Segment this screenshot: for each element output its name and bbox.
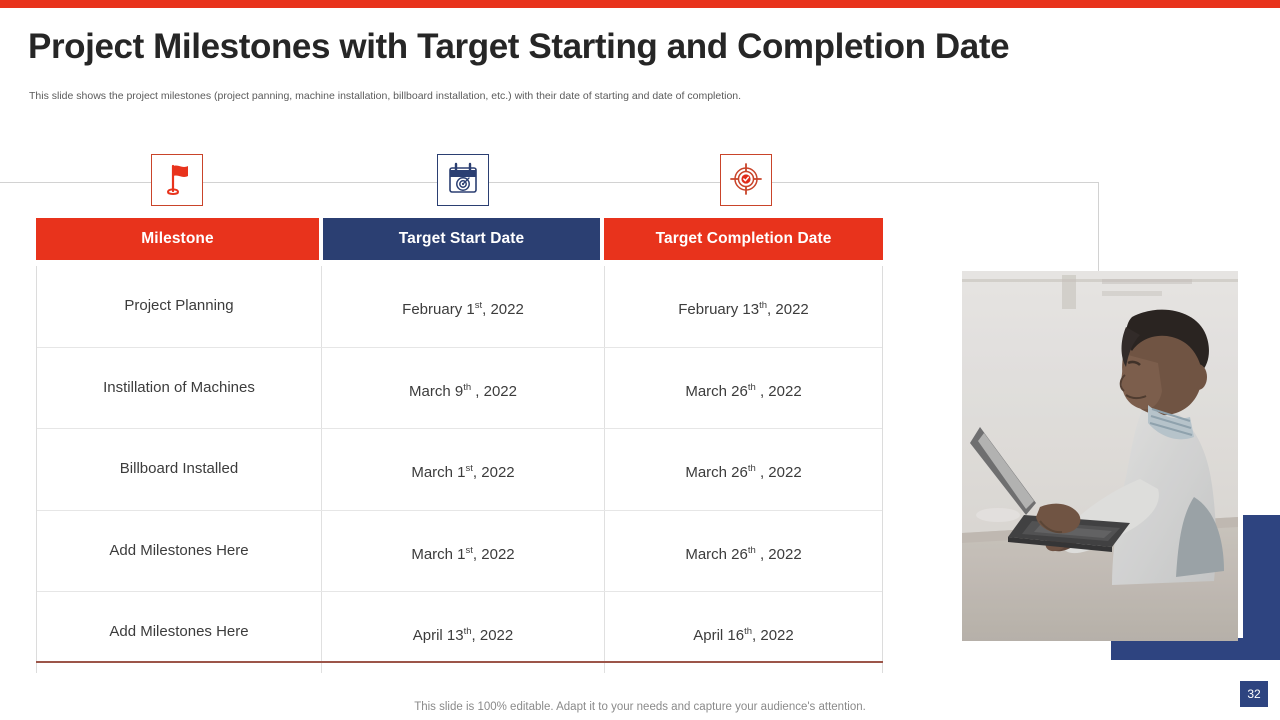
cell-start-date: March 1st, 2022	[322, 429, 605, 510]
table-row: Instillation of MachinesMarch 9th , 2022…	[37, 348, 882, 430]
footer-note: This slide is 100% editable. Adapt it to…	[0, 701, 1280, 713]
cell-completion-date: March 26th , 2022	[605, 348, 882, 429]
man-working-on-laptop-photo	[962, 271, 1238, 641]
cell-start-date: March 9th , 2022	[322, 348, 605, 429]
table-header-row: Milestone Target Start Date Target Compl…	[36, 218, 883, 260]
cell-completion-date: February 13th, 2022	[605, 266, 882, 347]
cell-completion-date: March 26th , 2022	[605, 511, 882, 592]
icon-box-start-date	[437, 154, 489, 206]
flag-icon	[152, 161, 202, 197]
column-header-milestone: Milestone	[36, 218, 319, 260]
table-row: Project PlanningFebruary 1st, 2022Februa…	[37, 266, 882, 348]
column-header-start-date: Target Start Date	[323, 218, 600, 260]
cell-milestone: Project Planning	[37, 266, 322, 347]
top-accent-bar	[0, 0, 1280, 8]
calendar-target-icon	[438, 161, 488, 197]
page-title: Project Milestones with Target Starting …	[28, 27, 1009, 67]
icon-box-completion-date	[720, 154, 772, 206]
cell-milestone: Instillation of Machines	[37, 348, 322, 429]
cell-milestone: Add Milestones Here	[37, 511, 322, 592]
connector-line-vertical	[1098, 182, 1099, 272]
cell-start-date: February 1st, 2022	[322, 266, 605, 347]
table-body: Project PlanningFebruary 1st, 2022Februa…	[36, 266, 883, 673]
milestones-table: Milestone Target Start Date Target Compl…	[36, 218, 883, 673]
cell-milestone: Billboard Installed	[37, 429, 322, 510]
page-subtitle: This slide shows the project milestones …	[29, 90, 741, 102]
cell-start-date: March 1st, 2022	[322, 511, 605, 592]
page-number-badge: 32	[1240, 681, 1268, 707]
table-row: Add Milestones HereMarch 1st, 2022March …	[37, 511, 882, 593]
table-row: Billboard InstalledMarch 1st, 2022March …	[37, 429, 882, 511]
icon-box-milestone	[151, 154, 203, 206]
accent-block-bottom	[1111, 638, 1280, 660]
table-bottom-rule	[36, 661, 883, 663]
column-header-completion-date: Target Completion Date	[604, 218, 883, 260]
target-check-icon	[721, 161, 771, 197]
cell-completion-date: March 26th , 2022	[605, 429, 882, 510]
